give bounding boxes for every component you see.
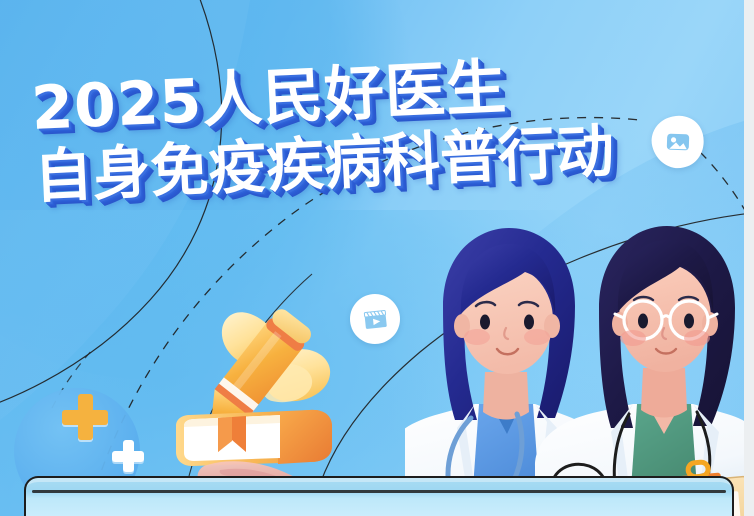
right-edge-strip [744, 0, 754, 516]
white-plus-cross-icon [112, 440, 144, 472]
doctor-left-eye-right [524, 315, 534, 330]
doctors-illustration [405, 222, 754, 516]
poster-title: 2025人民好医生 自身免疫疾病科普行动 [30, 52, 615, 208]
book-icon [176, 410, 332, 466]
doctor-right-eye-left [638, 314, 648, 329]
desk-edge-line [32, 490, 726, 493]
pencil-book-illustration [160, 300, 360, 490]
doctor-right-eye-right [684, 314, 694, 329]
doctor-left-eye-left [480, 315, 490, 330]
front-desk-counter [24, 476, 734, 516]
image-icon [660, 124, 696, 160]
orange-plus-cross-icon [62, 394, 108, 440]
campaign-poster: 2025人民好医生 自身免疫疾病科普行动 [0, 0, 754, 516]
video-clapperboard-icon [360, 304, 390, 334]
